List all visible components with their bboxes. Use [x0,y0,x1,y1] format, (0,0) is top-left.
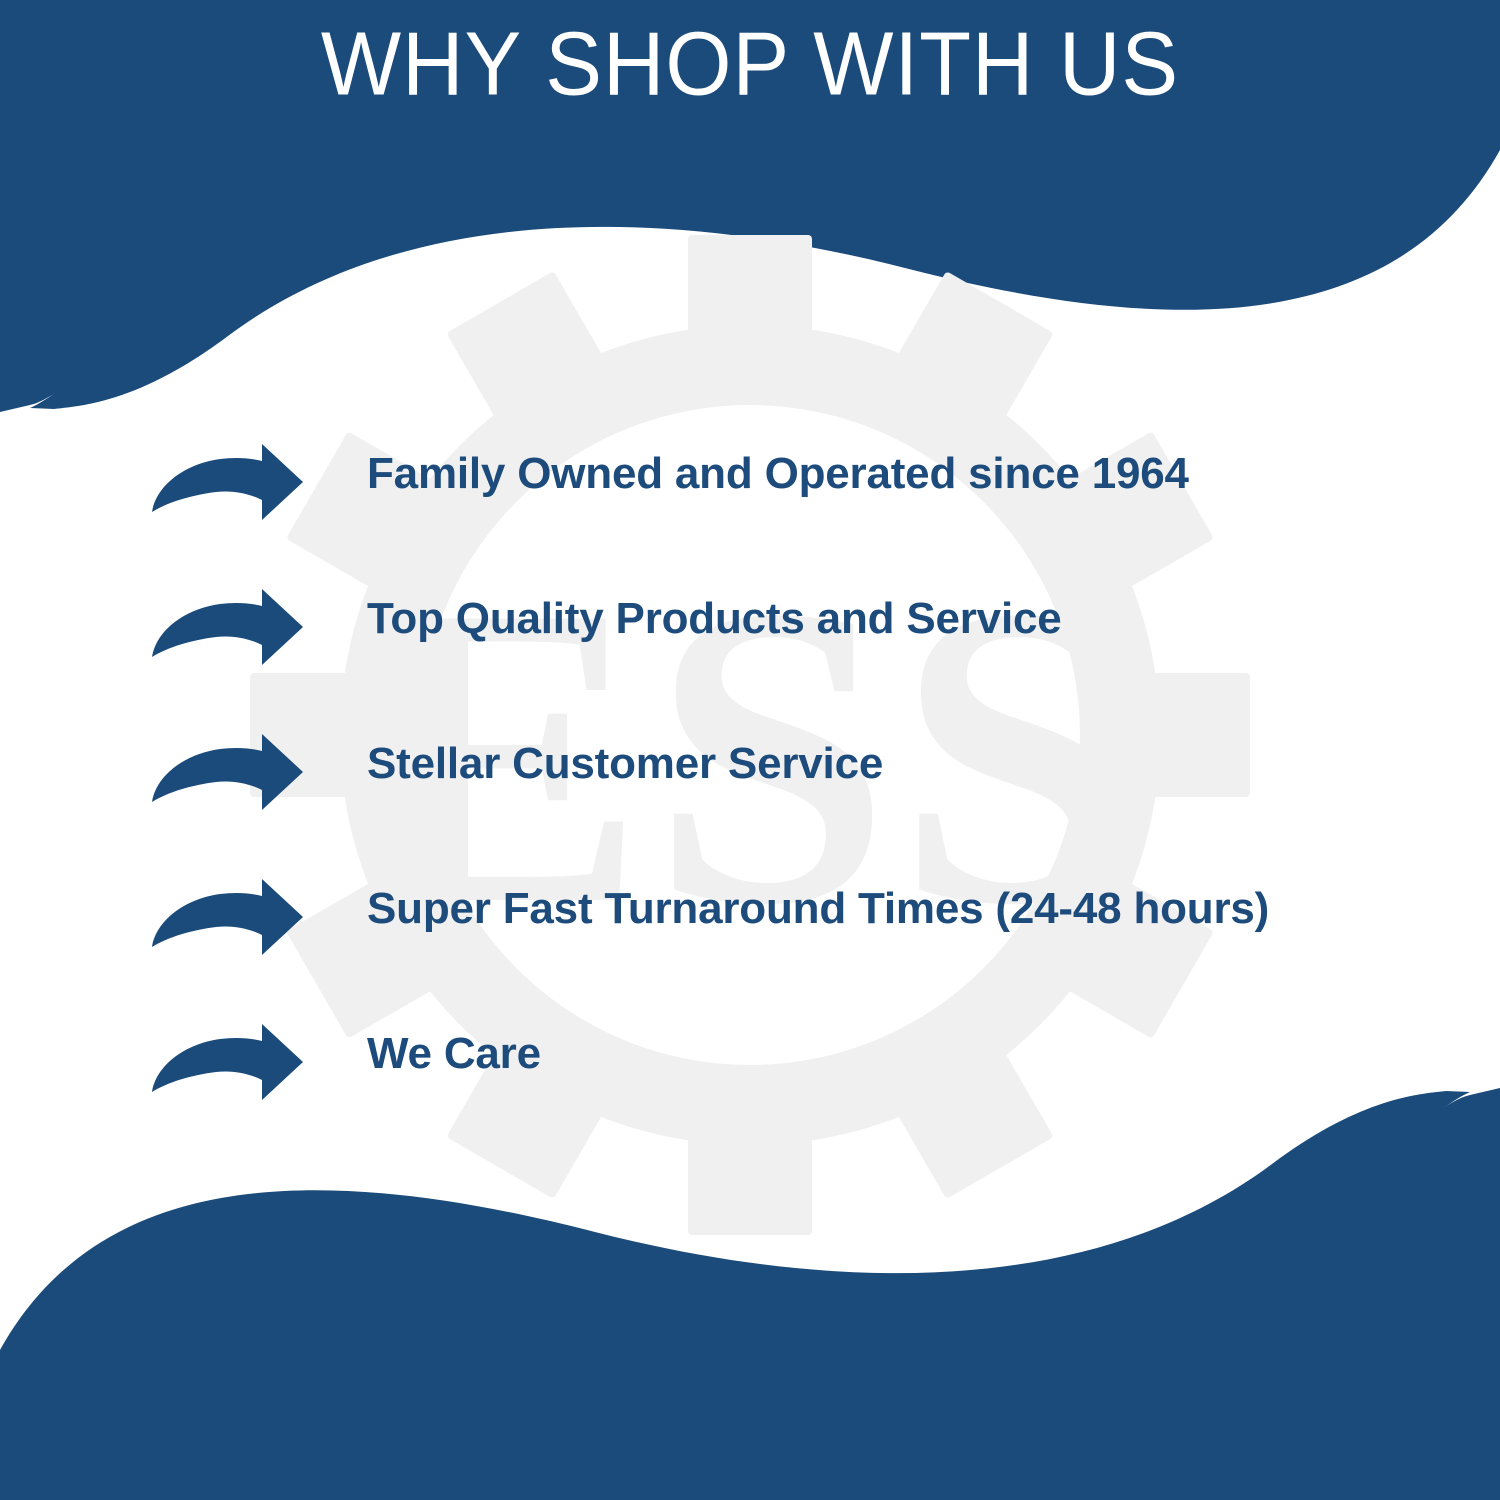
title-bar: WHY SHOP WITH US [0,0,1500,128]
list-item: Top Quality Products and Service [150,575,1450,720]
curved-arrow-right-icon [150,877,305,957]
list-item-label: Top Quality Products and Service [367,575,1450,641]
list-item: Super Fast Turnaround Times (24-48 hours… [150,865,1450,1010]
list-item-label: Super Fast Turnaround Times (24-48 hours… [367,865,1450,931]
curved-arrow-right-icon [150,587,305,667]
benefits-list: Family Owned and Operated since 1964 Top… [150,430,1450,1130]
promo-banner: ESS WHY SHOP WITH US Family Owned and [0,0,1500,1500]
curved-arrow-right-icon [150,732,305,812]
list-item: We Care [150,1010,1450,1130]
curved-arrow-right-icon [150,442,305,522]
list-item: Stellar Customer Service [150,720,1450,865]
list-item: Family Owned and Operated since 1964 [150,430,1450,575]
list-item-label: Stellar Customer Service [367,720,1450,786]
page-title: WHY SHOP WITH US [321,19,1179,109]
list-item-label: Family Owned and Operated since 1964 [367,430,1450,496]
curved-arrow-right-icon [150,1022,305,1102]
list-item-label: We Care [367,1010,1450,1076]
